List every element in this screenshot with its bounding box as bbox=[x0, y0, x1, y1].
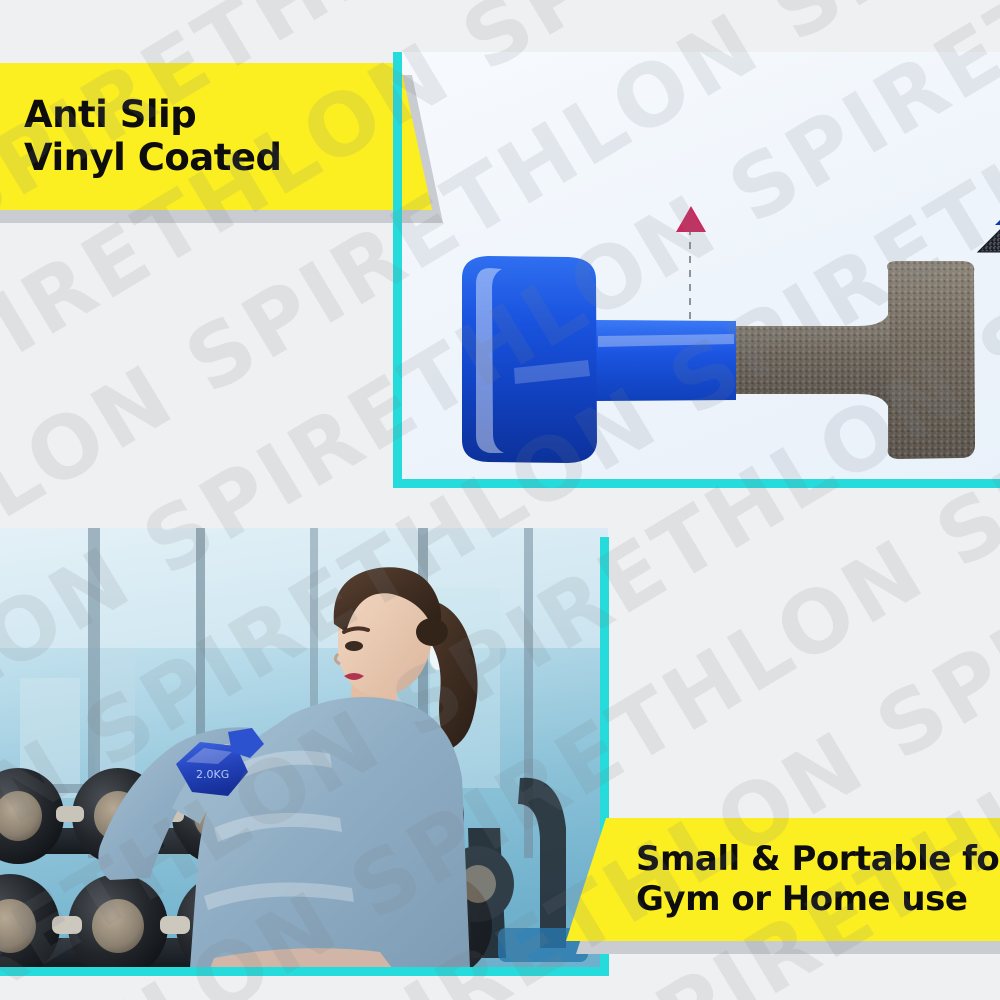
banner-top-line2: Vinyl Coated bbox=[24, 137, 432, 180]
dumbbell-iron-head bbox=[887, 261, 975, 459]
dumbbell-weight-label: 2.0KG bbox=[196, 768, 229, 781]
banner-small-portable: Small & Portable for Gym or Home use bbox=[566, 818, 1000, 941]
gym-photo: 2.0KG bbox=[0, 528, 608, 968]
gym-photo-bottom-border bbox=[0, 967, 609, 976]
dumbbell-half-coated-illustration bbox=[418, 248, 988, 473]
banner-anti-slip-vinyl-coated: Anti Slip Vinyl Coated bbox=[0, 63, 432, 210]
middle-bonding-layer bbox=[995, 182, 1000, 225]
pointer-arrow-icon bbox=[676, 206, 706, 232]
banner-bottom-line1: Small & Portable for bbox=[636, 840, 1000, 880]
product-panel-left-border bbox=[393, 52, 402, 488]
banner-top-line1: Anti Slip bbox=[24, 94, 432, 137]
iron-base-layer bbox=[978, 207, 1000, 252]
dumbbell-iron-bar bbox=[736, 308, 890, 413]
dumbbell-coated-head bbox=[462, 256, 597, 463]
exploded-layers-diagram bbox=[933, 107, 1000, 267]
banner-bottom-line2: Gym or Home use bbox=[636, 880, 1000, 920]
product-feature-image: Anti Slip Vinyl Coated bbox=[0, 0, 1000, 1000]
dumbbell-coated-bar bbox=[593, 320, 736, 401]
product-panel-bottom-border bbox=[393, 479, 1000, 488]
